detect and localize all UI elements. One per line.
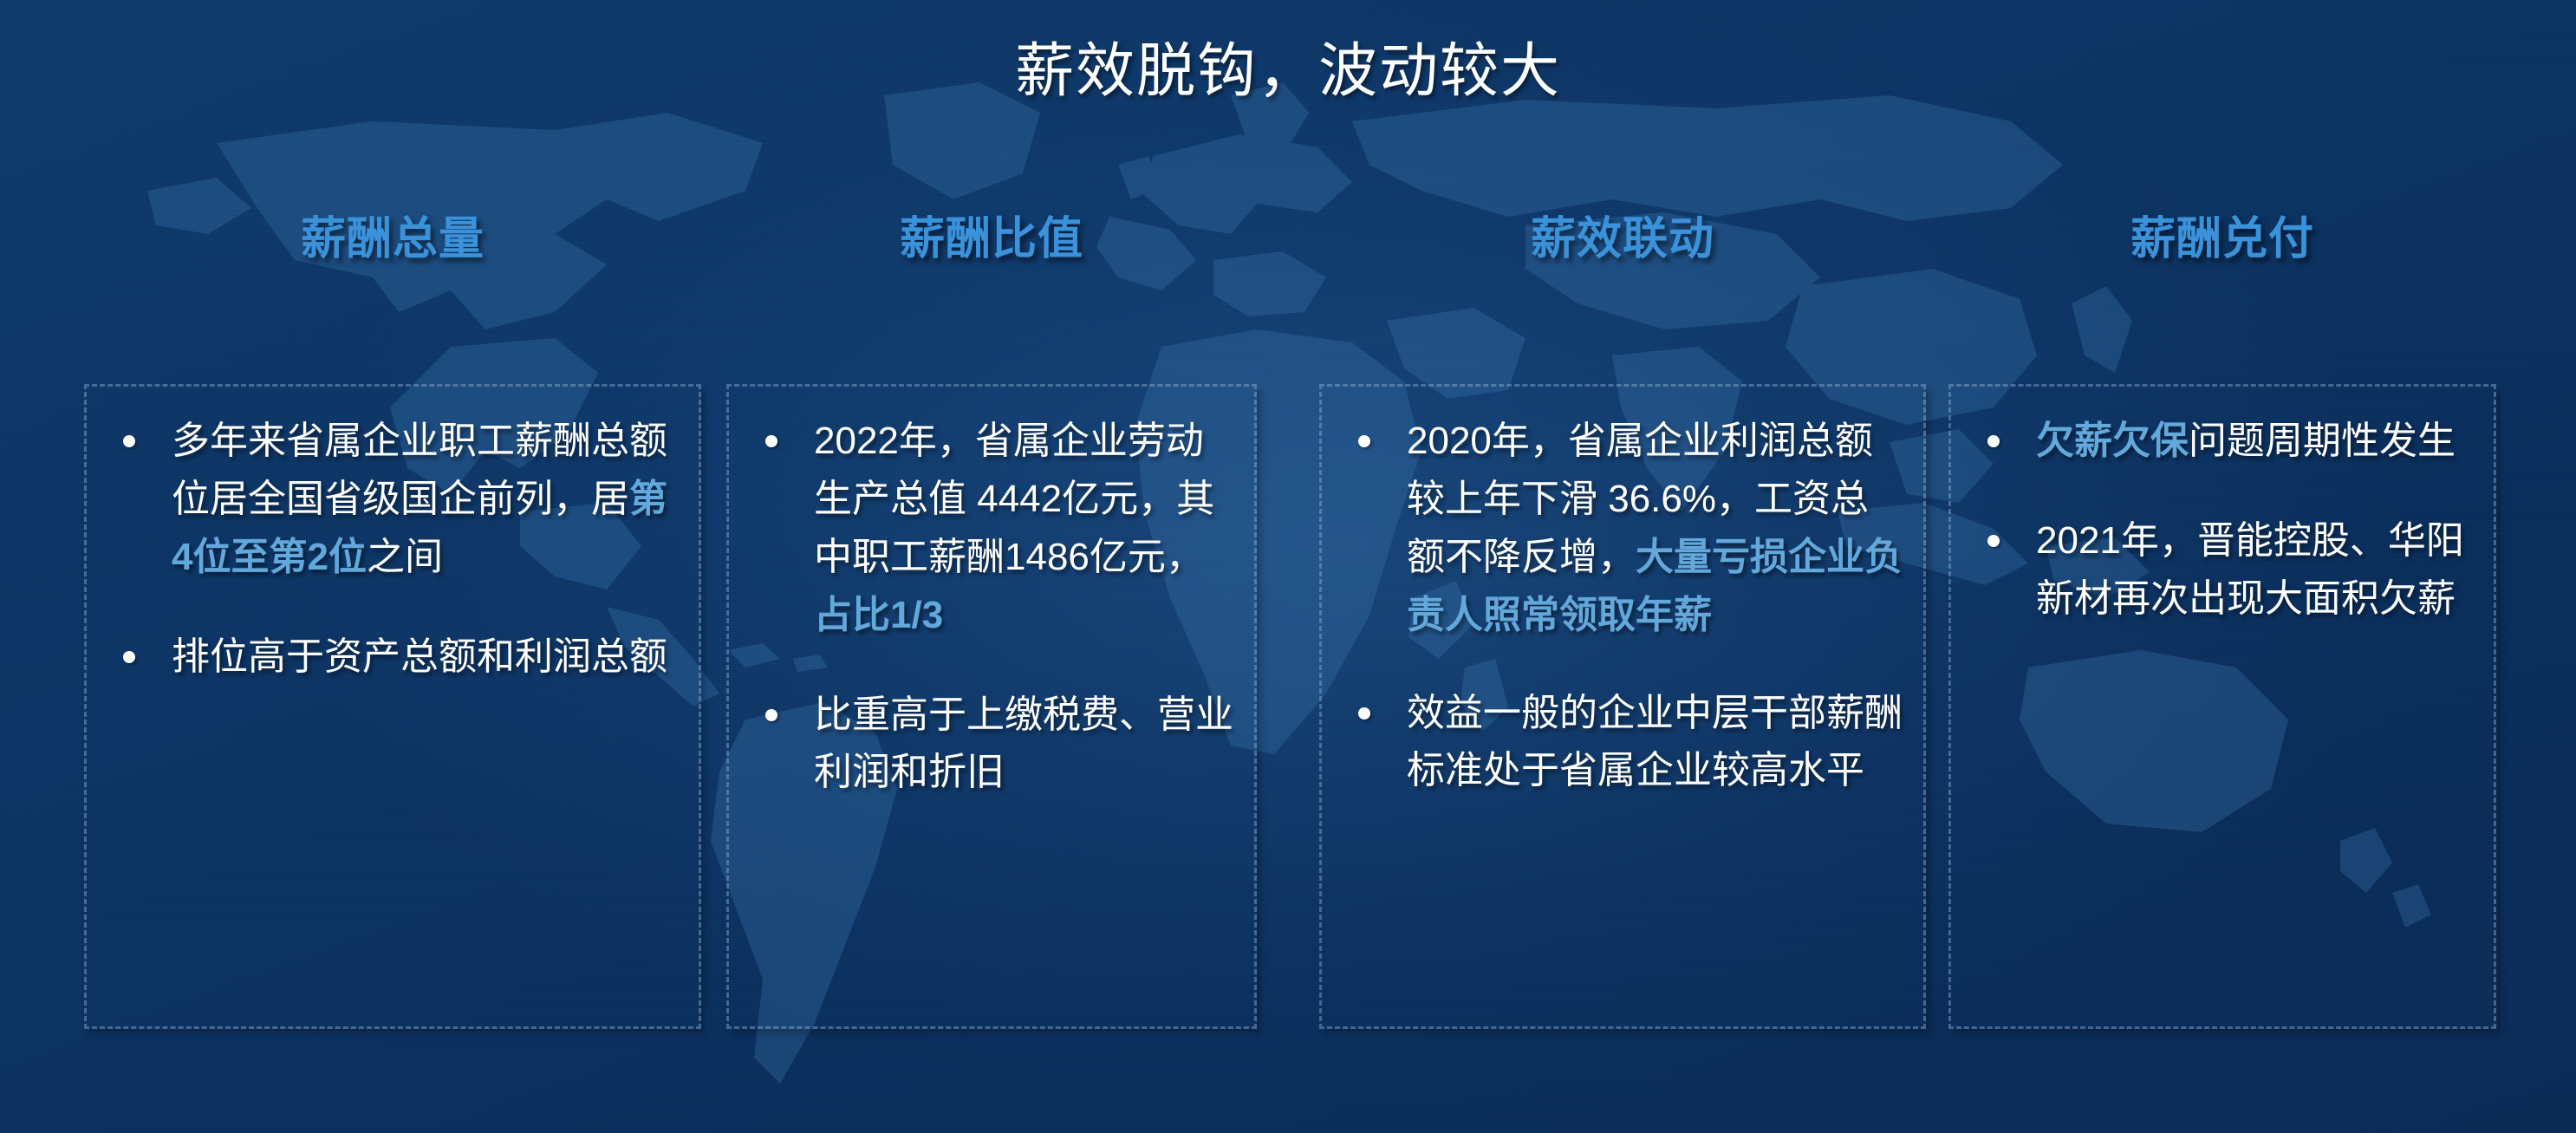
- bullet-dot-icon: [1358, 707, 1370, 720]
- column-header-1: 薪酬总量: [84, 217, 701, 277]
- column-salary-payment: 薪酬兑付 欠薪欠保问题周期性发生 2021年，晋能控股、华阳新材再次出现大面积欠…: [1948, 217, 2496, 1029]
- list-item: 2020年，省属企业利润总额较上年下滑 36.6%，工资总额不降反增，大量亏损企…: [1343, 413, 1903, 645]
- column-header-3: 薪效联动: [1319, 217, 1926, 277]
- bullet-dot-icon: [123, 651, 135, 663]
- bullet-text-1-2: 排位高于资产总额和利润总额: [172, 628, 678, 687]
- bullet-text-4-1: 欠薪欠保问题周期性发生: [2036, 413, 2473, 471]
- bullet-list-3: 2020年，省属企业利润总额较上年下滑 36.6%，工资总额不降反增，大量亏损企…: [1322, 387, 1923, 840]
- column-header-2: 薪酬比值: [726, 217, 1257, 277]
- list-item: 比重高于上缴税费、营业利润和折旧: [750, 687, 1233, 803]
- bullet-dot-icon: [123, 435, 135, 447]
- bullet-text-2-1: 2022年，省属企业劳动生产总值 4442亿元，其中职工薪酬1486亿元，占比1…: [814, 413, 1233, 645]
- column-pay-performance-link: 薪效联动 2020年，省属企业利润总额较上年下滑 36.6%，工资总额不降反增，…: [1319, 217, 1926, 1029]
- bullet-text-1-1: 多年来省属企业职工薪酬总额位居全国省级国企前列，居第4位至第2位之间: [172, 413, 678, 587]
- list-item: 效益一般的企业中层干部薪酬标准处于省属企业较高水平: [1343, 685, 1903, 801]
- column-salary-total: 薪酬总量 多年来省属企业职工薪酬总额位居全国省级国企前列，居第4位至第2位之间 …: [84, 217, 701, 1029]
- bullet-dot-icon: [1987, 435, 2000, 447]
- bullet-list-2: 2022年，省属企业劳动生产总值 4442亿元，其中职工薪酬1486亿元，占比1…: [729, 387, 1254, 842]
- list-item: 排位高于资产总额和利润总额: [107, 628, 678, 687]
- bullet-dot-icon: [765, 435, 777, 447]
- page-title: 薪效脱钩，波动较大: [0, 23, 2576, 108]
- bullet-dot-icon: [1358, 435, 1370, 447]
- panel-2: 2022年，省属企业劳动生产总值 4442亿元，其中职工薪酬1486亿元，占比1…: [726, 384, 1257, 1029]
- panel-3: 2020年，省属企业利润总额较上年下滑 36.6%，工资总额不降反增，大量亏损企…: [1319, 384, 1926, 1029]
- column-salary-ratio: 薪酬比值 2022年，省属企业劳动生产总值 4442亿元，其中职工薪酬1486亿…: [726, 217, 1257, 1029]
- bullet-dot-icon: [1987, 535, 2000, 547]
- bullet-text-2-2: 比重高于上缴税费、营业利润和折旧: [814, 687, 1233, 803]
- list-item: 2022年，省属企业劳动生产总值 4442亿元，其中职工薪酬1486亿元，占比1…: [750, 413, 1233, 645]
- panel-4: 欠薪欠保问题周期性发生 2021年，晋能控股、华阳新材再次出现大面积欠薪: [1948, 384, 2496, 1029]
- bullet-list-1: 多年来省属企业职工薪酬总额位居全国省级国企前列，居第4位至第2位之间 排位高于资…: [87, 387, 699, 726]
- bullet-text-4-2: 2021年，晋能控股、华阳新材再次出现大面积欠薪: [2036, 512, 2473, 628]
- list-item: 多年来省属企业职工薪酬总额位居全国省级国企前列，居第4位至第2位之间: [107, 413, 678, 587]
- panel-1: 多年来省属企业职工薪酬总额位居全国省级国企前列，居第4位至第2位之间 排位高于资…: [84, 384, 701, 1029]
- bullet-text-3-2: 效益一般的企业中层干部薪酬标准处于省属企业较高水平: [1407, 685, 1903, 801]
- column-header-4: 薪酬兑付: [1948, 217, 2496, 277]
- bullet-dot-icon: [765, 709, 777, 721]
- bullet-list-4: 欠薪欠保问题周期性发生 2021年，晋能控股、华阳新材再次出现大面积欠薪: [1951, 387, 2494, 668]
- slide-canvas: 薪效脱钩，波动较大 薪酬总量 多年来省属企业职工薪酬总额位居全国省级国企前列，居…: [0, 0, 2576, 1133]
- list-item: 欠薪欠保问题周期性发生: [1972, 413, 2473, 471]
- bullet-text-3-1: 2020年，省属企业利润总额较上年下滑 36.6%，工资总额不降反增，大量亏损企…: [1407, 413, 1903, 645]
- list-item: 2021年，晋能控股、华阳新材再次出现大面积欠薪: [1972, 512, 2473, 628]
